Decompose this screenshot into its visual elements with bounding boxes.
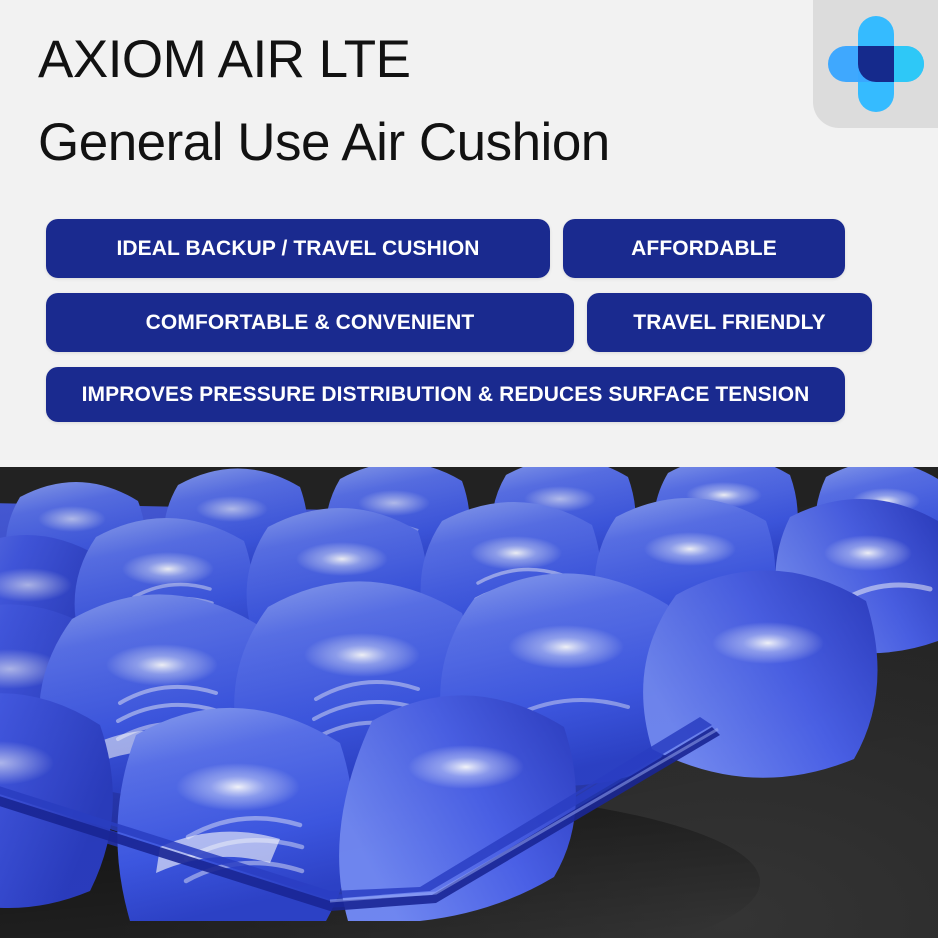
- page-title: AXIOM AIR LTE: [38, 30, 778, 89]
- air-cushion-illustration: [0, 467, 938, 938]
- feature-badge-affordable[interactable]: AFFORDABLE: [563, 219, 845, 278]
- product-photo: [0, 467, 938, 938]
- brand-logo-container: [813, 0, 938, 128]
- feature-badge-ideal-backup-travel-cushion[interactable]: IDEAL BACKUP / TRAVEL CUSHION: [46, 219, 550, 278]
- title-block: AXIOM AIR LTE General Use Air Cushion: [38, 30, 778, 173]
- feature-badge-comfortable-convenient[interactable]: COMFORTABLE & CONVENIENT: [46, 293, 574, 352]
- page-subtitle: General Use Air Cushion: [38, 113, 778, 172]
- feature-badge-travel-friendly[interactable]: TRAVEL FRIENDLY: [587, 293, 872, 352]
- feature-badge-row: COMFORTABLE & CONVENIENT TRAVEL FRIENDLY: [46, 293, 892, 352]
- header-section: AXIOM AIR LTE General Use Air Cushion ID…: [0, 0, 938, 467]
- medical-cross-icon: [824, 12, 928, 116]
- product-card: AXIOM AIR LTE General Use Air Cushion ID…: [0, 0, 938, 938]
- feature-badge-row: IMPROVES PRESSURE DISTRIBUTION & REDUCES…: [46, 367, 892, 422]
- feature-badge-list: IDEAL BACKUP / TRAVEL CUSHION AFFORDABLE…: [46, 219, 892, 437]
- feature-badge-row: IDEAL BACKUP / TRAVEL CUSHION AFFORDABLE: [46, 219, 892, 278]
- feature-badge-improves-pressure-distribution[interactable]: IMPROVES PRESSURE DISTRIBUTION & REDUCES…: [46, 367, 845, 422]
